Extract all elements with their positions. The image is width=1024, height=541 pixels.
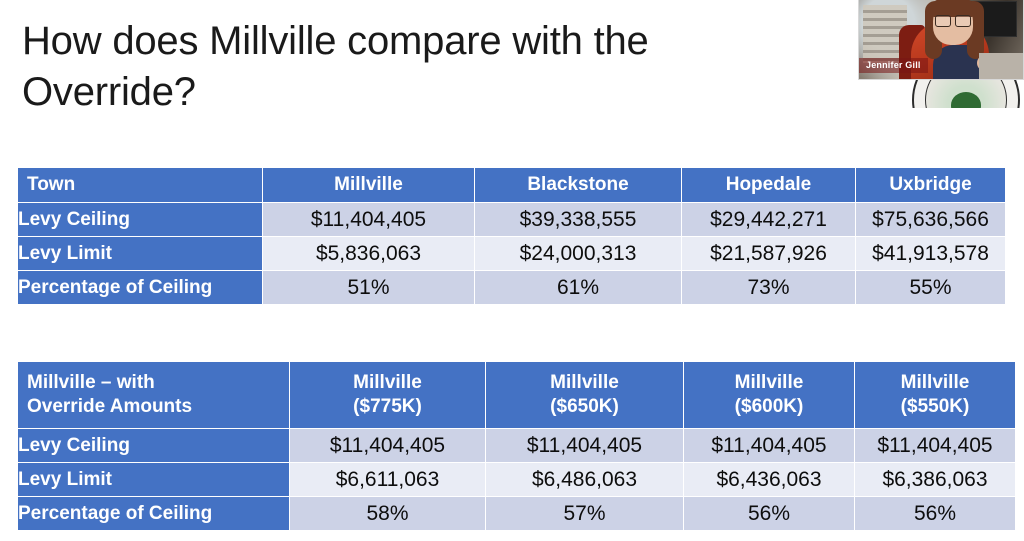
row-label-levy-ceiling: Levy Ceiling [18,203,263,237]
column-header-town: Town [18,168,263,203]
column-header-uxbridge: Uxbridge [856,168,1006,203]
cell-value: $39,338,555 [475,203,682,237]
cell-value: $11,404,405 [290,429,486,463]
cell-value: $24,000,313 [475,237,682,271]
glasses-icon [935,15,971,25]
cell-value: 55% [856,271,1006,305]
cell-value: $75,636,566 [856,203,1006,237]
cell-value: 51% [263,271,475,305]
seal-arc-text: CORPORATED [914,129,1018,138]
table-row: Percentage of Ceiling 58% 57% 56% 56% [18,497,1016,531]
cell-value: 58% [290,497,486,531]
column-header-millville-override: Millville – with Override Amounts [18,362,290,429]
cell-value: $21,587,926 [682,237,856,271]
column-header-blackstone: Blackstone [475,168,682,203]
column-header-millville-775k: Millville ($775K) [290,362,486,429]
table-levy-comparison: Town Millville Blackstone Hopedale Uxbri… [17,167,1006,305]
row-label-percentage-of-ceiling: Percentage of Ceiling [18,271,263,305]
cell-value: $6,611,063 [290,463,486,497]
cell-value: 61% [475,271,682,305]
column-header-millville-550k: Millville ($550K) [855,362,1016,429]
cell-value: $6,386,063 [855,463,1016,497]
cell-value: $11,404,405 [855,429,1016,463]
row-label-levy-ceiling: Levy Ceiling [18,429,290,463]
table-row: Levy Limit $6,611,063 $6,486,063 $6,436,… [18,463,1016,497]
column-header-millville-600k: Millville ($600K) [684,362,855,429]
cell-value: 56% [855,497,1016,531]
row-label-levy-limit: Levy Limit [18,463,290,497]
column-header-hopedale: Hopedale [682,168,856,203]
webcam-video-tile[interactable]: Jennifer Gill [858,0,1024,80]
page-title: How does Millville compare with the Over… [22,16,822,118]
cell-value: $11,404,405 [684,429,855,463]
row-label-levy-limit: Levy Limit [18,237,263,271]
table-row: Levy Ceiling $11,404,405 $39,338,555 $29… [18,203,1006,237]
row-label-percentage-of-ceiling: Percentage of Ceiling [18,497,290,531]
webcam-desk [979,53,1023,79]
table-levy-override: Millville – with Override Amounts Millvi… [17,361,1016,531]
cell-value: $5,836,063 [263,237,475,271]
table-row: Percentage of Ceiling 51% 61% 73% 55% [18,271,1006,305]
cell-value: 56% [684,497,855,531]
table-header-row: Town Millville Blackstone Hopedale Uxbri… [18,168,1006,203]
cell-value: $6,486,063 [486,463,684,497]
participant-name-label: Jennifer Gill [859,58,928,73]
table-row: Levy Ceiling $11,404,405 $11,404,405 $11… [18,429,1016,463]
column-header-millville: Millville [263,168,475,203]
presentation-slide: How does Millville compare with the Over… [0,0,1024,541]
cell-value: $11,404,405 [263,203,475,237]
table-header-row: Millville – with Override Amounts Millvi… [18,362,1016,429]
cell-value: $11,404,405 [486,429,684,463]
table-row: Levy Limit $5,836,063 $24,000,313 $21,58… [18,237,1006,271]
cell-value: $6,436,063 [684,463,855,497]
seal-tree-icon [951,92,981,118]
cell-value: 73% [682,271,856,305]
column-header-millville-650k: Millville ($650K) [486,362,684,429]
cell-value: $41,913,578 [856,237,1006,271]
cell-value: $29,442,271 [682,203,856,237]
cell-value: 57% [486,497,684,531]
